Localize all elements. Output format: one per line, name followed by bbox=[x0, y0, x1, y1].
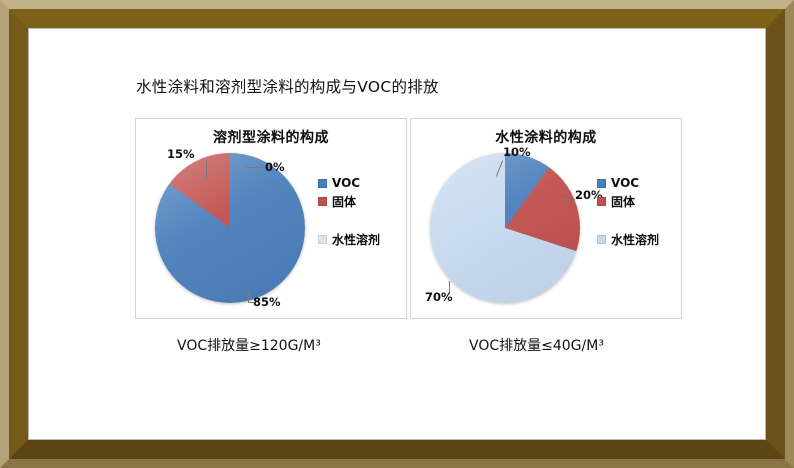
chart-legend-water-based: VOC 固体 水性溶剂 bbox=[597, 175, 683, 249]
caption-solvent-based: VOC排放量≥120G/M³ bbox=[177, 335, 321, 355]
data-label-voc-solvent-based: 85% bbox=[253, 295, 281, 309]
legend-label-voc: VOC bbox=[611, 176, 639, 190]
leader-line-solid-right bbox=[561, 199, 575, 200]
legend-label-water-solvent: 水性溶剂 bbox=[611, 231, 659, 248]
data-label-voc-water-based: 10% bbox=[503, 145, 531, 159]
legend-label-voc: VOC bbox=[332, 176, 360, 190]
chart-panel-water-based: 水性涂料的构成 10% 20% 70% VOC 固体 水性溶剂 bbox=[410, 118, 682, 319]
chart-title-water-based: 水性涂料的构成 bbox=[411, 127, 681, 147]
legend-swatch-voc-icon bbox=[318, 179, 327, 188]
legend-item-voc-water-based[interactable]: VOC bbox=[597, 175, 683, 191]
caption-water-based: VOC排放量≤40G/M³ bbox=[469, 335, 604, 355]
chart-panel-solvent-based: 溶剂型涂料的构成 0% 15% 85% VOC 固体 水性溶剂 bbox=[135, 118, 407, 319]
leader-line-solid-left-v bbox=[206, 161, 207, 179]
legend-item-water-solvent-water-based[interactable]: 水性溶剂 bbox=[597, 231, 683, 247]
page-title: 水性涂料和溶剂型涂料的构成与VOC的排放 bbox=[136, 75, 439, 97]
legend-label-solid: 固体 bbox=[611, 193, 635, 210]
legend-swatch-voc-icon bbox=[597, 179, 606, 188]
pie-chart-solvent-based bbox=[155, 153, 305, 303]
chart-legend-solvent-based: VOC 固体 水性溶剂 bbox=[318, 175, 404, 249]
legend-label-water-solvent: 水性溶剂 bbox=[332, 231, 380, 248]
legend-swatch-solid-icon bbox=[318, 197, 327, 206]
legend-swatch-water-solvent-icon bbox=[318, 235, 327, 244]
legend-item-solid-water-based[interactable]: 固体 bbox=[597, 193, 683, 209]
legend-swatch-water-solvent-icon bbox=[597, 235, 606, 244]
legend-item-voc-solvent-based[interactable]: VOC bbox=[318, 175, 404, 191]
legend-label-solid: 固体 bbox=[332, 193, 356, 210]
data-label-water-solvent-water-based: 70% bbox=[425, 290, 453, 304]
pie-slices-water-based bbox=[430, 153, 580, 303]
chart-title-solvent-based: 溶剂型涂料的构成 bbox=[136, 127, 406, 147]
legend-item-solid-solvent-based[interactable]: 固体 bbox=[318, 193, 404, 209]
data-label-water-solvent-solvent-based: 0% bbox=[265, 160, 285, 174]
data-label-solid-solvent-based: 15% bbox=[167, 147, 195, 161]
pie-chart-water-based bbox=[430, 153, 580, 303]
slide-canvas: 水性涂料和溶剂型涂料的构成与VOC的排放 溶剂型涂料的构成 0% 15% 85%… bbox=[29, 29, 765, 439]
pie-slices-solvent-based bbox=[155, 153, 305, 303]
legend-swatch-solid-icon bbox=[597, 197, 606, 206]
leader-line-water-solvent-left bbox=[246, 167, 264, 168]
legend-item-water-solvent-solvent-based[interactable]: 水性溶剂 bbox=[318, 231, 404, 247]
